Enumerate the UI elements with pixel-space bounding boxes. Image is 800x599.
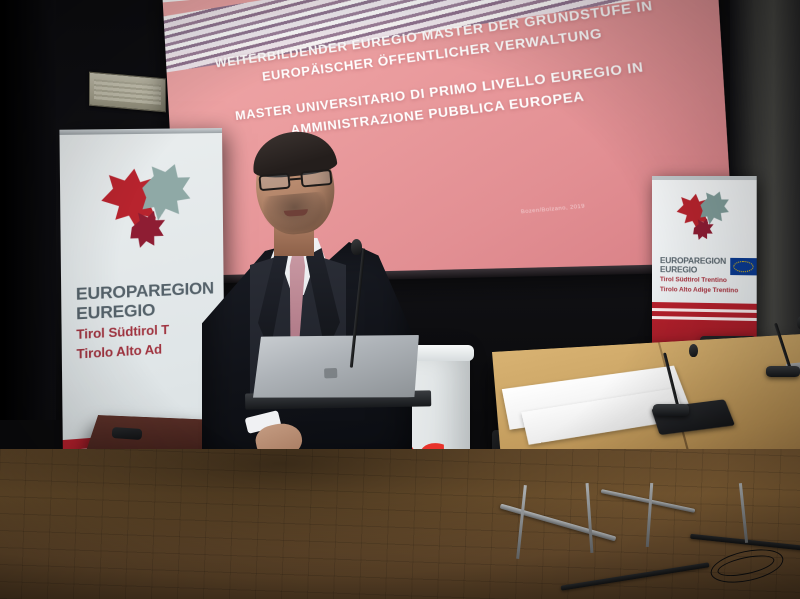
glasses-bridge bbox=[290, 178, 301, 181]
eu-flag-icon bbox=[730, 258, 756, 276]
laptop[interactable] bbox=[251, 331, 421, 403]
banner-right-subtitle-1: Tirol Südtirol Trentino bbox=[660, 277, 753, 286]
banner-right-text-block: EUROPAREGION EUREGIO Tirol Südtirol Tren… bbox=[660, 256, 753, 296]
euregio-logo-right bbox=[670, 188, 732, 251]
laptop-logo bbox=[324, 368, 337, 378]
conference-room-photo: E EMM.. ▤ Pannello di controllo S Skype … bbox=[0, 0, 800, 599]
wall-vent-panel bbox=[89, 72, 166, 113]
banner-right-title-2: EUREGIO bbox=[660, 265, 726, 275]
floor-shadow bbox=[0, 449, 800, 599]
banner-right-subtitle-2: Tirolo Alto Adige Trentino bbox=[660, 287, 753, 297]
lens-left bbox=[258, 173, 290, 192]
table-microphone-head bbox=[689, 344, 698, 357]
eu-stars bbox=[733, 261, 753, 272]
banner-top-rail bbox=[652, 176, 757, 180]
table-microphone-base bbox=[653, 404, 689, 416]
podium-microphone-head bbox=[351, 239, 362, 255]
left-wall-panel bbox=[0, 0, 56, 420]
speaker-person bbox=[196, 138, 426, 468]
banner-stripe bbox=[652, 308, 757, 313]
parquet-floor bbox=[0, 449, 800, 599]
lens-right bbox=[300, 169, 332, 188]
euregio-logo-left bbox=[89, 156, 197, 269]
remote-control[interactable] bbox=[112, 427, 143, 440]
banner-stripe bbox=[652, 316, 757, 321]
laptop-lid bbox=[251, 331, 421, 403]
slide-footer-text: Bozen/Bolzano, 2019 bbox=[520, 203, 585, 215]
banner-top-rail bbox=[59, 128, 222, 135]
table-microphone-base bbox=[766, 366, 800, 377]
